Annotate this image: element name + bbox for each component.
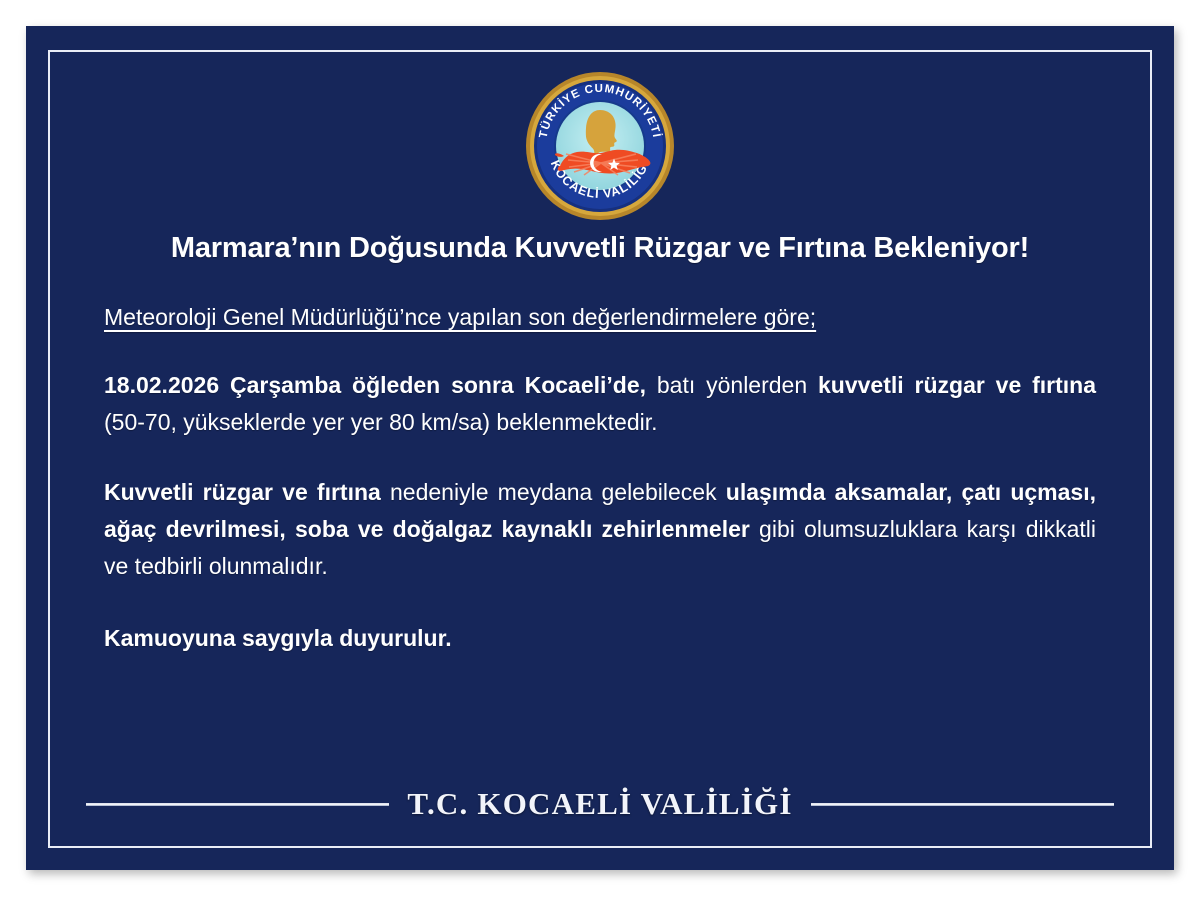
paragraph-forecast-plain-2: (50-70, yükseklerde yer yer 80 km/sa) be…: [104, 409, 658, 435]
paragraph-forecast: 18.02.2026 Çarşamba öğleden sonra Kocael…: [104, 367, 1096, 441]
poster-content: TÜRKİYE CUMHURİYETİ KOCAELİ VALİLİĞİ: [50, 52, 1150, 846]
paragraph-closing: Kamuoyuna saygıyla duyurulur.: [104, 620, 1096, 657]
body-text: 18.02.2026 Çarşamba öğleden sonra Kocael…: [104, 367, 1096, 657]
announcement-card: TÜRKİYE CUMHURİYETİ KOCAELİ VALİLİĞİ: [26, 26, 1174, 870]
kocaeli-valiligi-seal-icon: TÜRKİYE CUMHURİYETİ KOCAELİ VALİLİĞİ: [524, 70, 676, 222]
footer-organization-name: T.C. KOCAELİ VALİLİĞİ: [407, 786, 792, 822]
paragraph-forecast-plain-1: batı yönlerden: [646, 372, 818, 398]
seal-container: TÜRKİYE CUMHURİYETİ KOCAELİ VALİLİĞİ: [86, 70, 1114, 226]
footer-rule-right: [811, 803, 1114, 806]
paragraph-forecast-bold-wind: kuvvetli rüzgar ve fırtına: [818, 372, 1096, 398]
footer-rule-left: [86, 803, 389, 806]
paragraph-closing-bold: Kamuoyuna saygıyla duyurulur.: [104, 625, 452, 651]
paragraph-warning-bold-1: Kuvvetli rüzgar ve fırtına: [104, 479, 381, 505]
footer: T.C. KOCAELİ VALİLİĞİ: [86, 786, 1114, 822]
inner-border-frame: TÜRKİYE CUMHURİYETİ KOCAELİ VALİLİĞİ: [48, 50, 1152, 848]
poster-page: TÜRKİYE CUMHURİYETİ KOCAELİ VALİLİĞİ: [0, 0, 1200, 900]
paragraph-forecast-bold-date: 18.02.2026 Çarşamba öğleden sonra Kocael…: [104, 372, 646, 398]
lead-statement: Meteoroloji Genel Müdürlüğü’nce yapılan …: [104, 303, 1114, 333]
paragraph-warning: Kuvvetli rüzgar ve fırtına nedeniyle mey…: [104, 474, 1096, 585]
page-title: Marmara’nın Doğusunda Kuvvetli Rüzgar ve…: [86, 226, 1114, 265]
paragraph-warning-plain-1: nedeniyle meydana gelebilecek: [381, 479, 726, 505]
